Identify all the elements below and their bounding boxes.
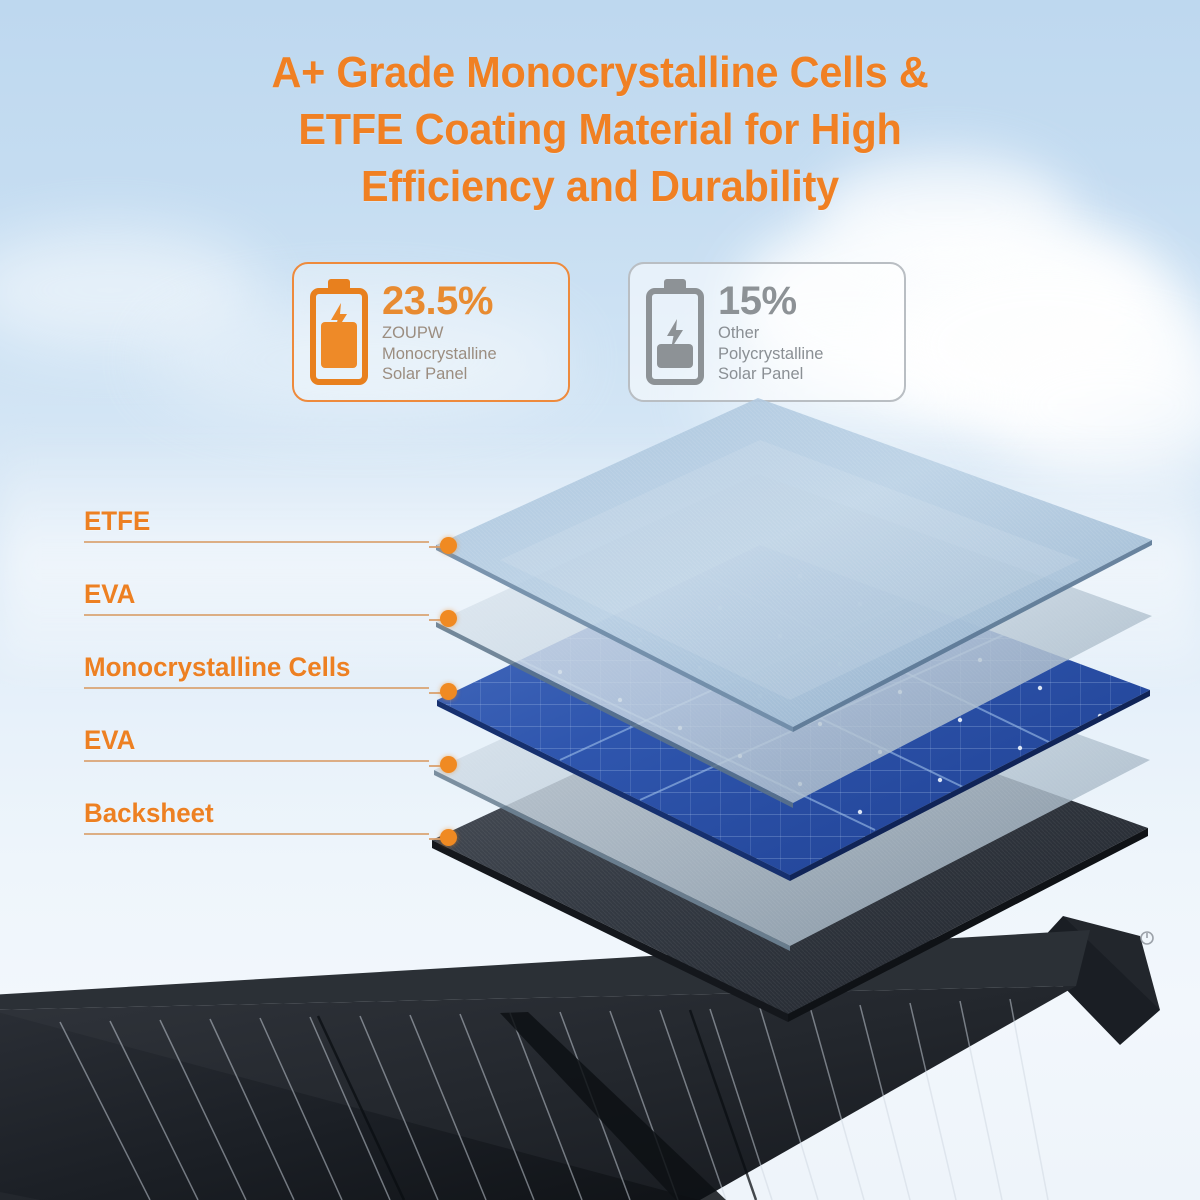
layer-anchor-dot-backsheet — [440, 829, 457, 846]
layer-label-rule — [84, 687, 429, 689]
layer-label-text: EVA — [84, 579, 415, 609]
layer-label-etfe: ETFE — [84, 506, 429, 543]
layer-label-text: EVA — [84, 725, 415, 755]
layer-anchor-dot-eva-lower — [440, 756, 457, 773]
layer-label-text: ETFE — [84, 506, 415, 536]
layer-label-rule — [84, 833, 429, 835]
layer-anchor-dot-cells — [440, 683, 457, 700]
layer-label-rule — [84, 541, 429, 543]
layer-label-eva-upper: EVA — [84, 579, 429, 616]
layer-label-monocrystalline-cells: Monocrystalline Cells — [84, 652, 429, 689]
layer-label-eva-lower: EVA — [84, 725, 429, 762]
layer-anchor-dot-etfe — [440, 537, 457, 554]
layer-label-text: Backsheet — [84, 798, 415, 828]
layer-label-rule — [84, 614, 429, 616]
layer-label-rule — [84, 760, 429, 762]
layer-anchor-dot-eva-upper — [440, 610, 457, 627]
layer-label-backsheet: Backsheet — [84, 798, 429, 835]
layer-label-text: Monocrystalline Cells — [84, 652, 415, 682]
layer-label-list: ETFE EVA Monocrystalline Cells EVA Backs… — [0, 0, 1200, 1200]
